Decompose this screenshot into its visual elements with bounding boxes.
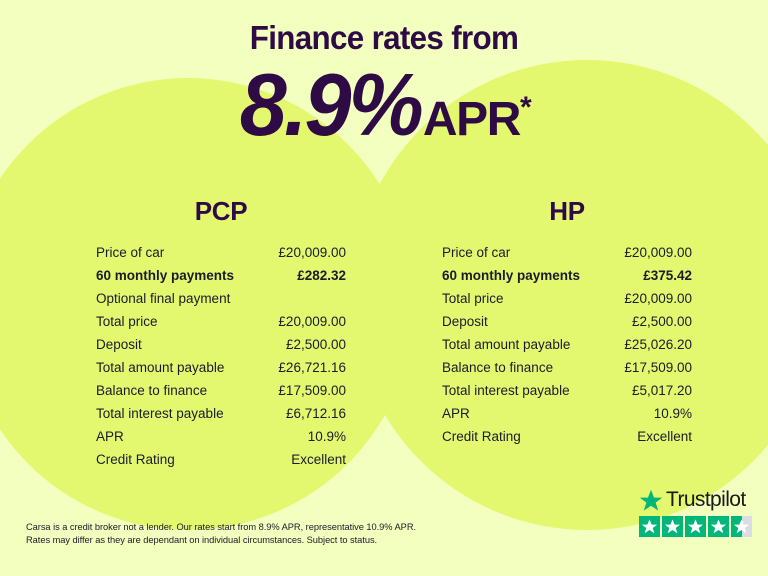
rate-unit: APR [423,96,520,149]
page-title: Finance rates from [19,0,749,57]
table-row: Deposit £2,500.00 [442,314,692,337]
table-row: Deposit £2,500.00 [96,337,346,360]
trustpilot-star-1 [639,516,660,537]
row-label: Credit Rating [442,429,521,444]
table-row: Price of car £20,009.00 [442,245,692,268]
row-label: Total price [96,314,158,329]
row-label: APR [442,406,470,421]
row-label: Price of car [96,245,164,260]
plan-card-hp: HP Price of car £20,009.00 60 monthly pa… [384,196,768,475]
row-value: £2,500.00 [286,337,346,352]
trustpilot-widget[interactable]: Trustpilot [639,488,752,537]
row-label: APR [96,429,124,444]
table-row: APR 10.9% [442,406,692,429]
row-value: £282.32 [297,268,346,283]
table-row: Optional final payment [96,291,346,314]
table-row: Total interest payable £6,712.16 [96,406,346,429]
trustpilot-star-4 [708,516,729,537]
table-row: Price of car £20,009.00 [96,245,346,268]
row-label: Deposit [442,314,488,329]
disclaimer-line-2: Rates may differ as they are dependant o… [26,534,456,547]
row-value: £20,009.00 [278,245,346,260]
row-label: Total interest payable [96,406,224,421]
row-label: 60 monthly payments [442,268,580,283]
row-label: Price of car [442,245,510,260]
trustpilot-star-3 [685,516,706,537]
row-value: Excellent [291,452,346,467]
plan-rows-hp: Price of car £20,009.00 60 monthly payme… [442,245,692,452]
headline-rate: 8.9% APR * [0,61,768,149]
row-value: £20,009.00 [624,291,692,306]
row-label: Total interest payable [442,383,570,398]
row-value: 10.9% [308,429,346,444]
row-label: Total amount payable [96,360,224,375]
trustpilot-wordmark: Trustpilot [639,488,752,512]
row-value: £17,509.00 [278,383,346,398]
row-value: £375.42 [643,268,692,283]
table-row: Total interest payable £5,017.20 [442,383,692,406]
row-value: £20,009.00 [278,314,346,329]
trustpilot-star-icon [639,489,663,512]
row-value: £17,509.00 [624,360,692,375]
row-label: 60 monthly payments [96,268,234,283]
row-label: Total price [442,291,504,306]
row-label: Credit Rating [96,452,175,467]
table-row: Balance to finance £17,509.00 [442,360,692,383]
finance-plans: PCP Price of car £20,009.00 60 monthly p… [0,196,768,475]
rate-asterisk: * [520,93,532,149]
row-value: £2,500.00 [632,314,692,329]
trustpilot-name: Trustpilot [666,488,746,512]
row-label: Balance to finance [96,383,207,398]
table-row: Total amount payable £26,721.16 [96,360,346,383]
table-row: Total price £20,009.00 [96,314,346,337]
row-value: £5,017.20 [632,383,692,398]
table-row: 60 monthly payments £282.32 [96,268,346,291]
row-value: £20,009.00 [624,245,692,260]
row-value: 10.9% [654,406,692,421]
rate-value: 8.9% [240,61,421,149]
table-row: 60 monthly payments £375.42 [442,268,692,291]
table-row: APR 10.9% [96,429,346,452]
row-value: £25,026.20 [624,337,692,352]
row-label: Deposit [96,337,142,352]
table-row: Total price £20,009.00 [442,291,692,314]
table-row: Credit Rating Excellent [442,429,692,452]
trustpilot-star-2 [662,516,683,537]
trustpilot-star-5-half [731,516,752,537]
disclaimer-line-1: Carsa is a credit broker not a lender. O… [26,521,456,534]
plan-title-hp: HP [442,196,692,227]
plan-card-pcp: PCP Price of car £20,009.00 60 monthly p… [0,196,384,475]
row-label: Balance to finance [442,360,553,375]
header: Finance rates from 8.9% APR * [0,0,768,149]
row-label: Optional final payment [96,291,230,306]
table-row: Balance to finance £17,509.00 [96,383,346,406]
disclaimer-text: Carsa is a credit broker not a lender. O… [26,521,456,547]
plan-rows-pcp: Price of car £20,009.00 60 monthly payme… [96,245,346,475]
row-label: Total amount payable [442,337,570,352]
row-value: £6,712.16 [286,406,346,421]
table-row: Credit Rating Excellent [96,452,346,475]
table-row: Total amount payable £25,026.20 [442,337,692,360]
plan-title-pcp: PCP [96,196,346,227]
row-value: Excellent [637,429,692,444]
trustpilot-rating-stars [639,516,752,537]
row-value: £26,721.16 [278,360,346,375]
finance-rates-poster: Finance rates from 8.9% APR * PCP Price … [0,0,768,576]
